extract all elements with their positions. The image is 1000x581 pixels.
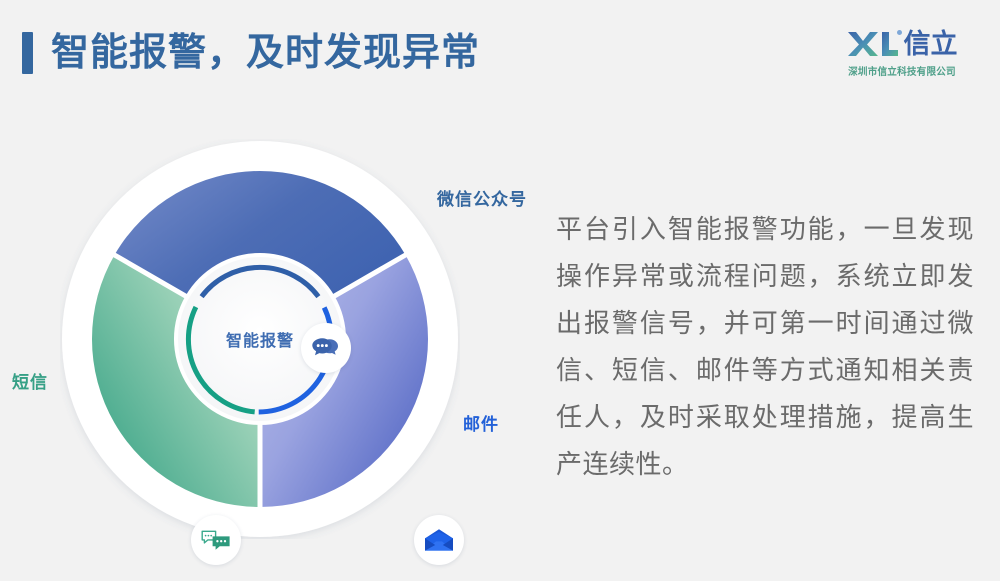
logo-wordmark: 信立 — [822, 28, 982, 60]
node-email[interactable] — [414, 515, 464, 565]
node-sms[interactable] — [191, 515, 241, 565]
page-title-group: 智能报警，及时发现异常 — [22, 32, 480, 74]
chat-bubbles-icon — [312, 335, 340, 361]
sms-messages-icon — [201, 528, 231, 552]
slide-canvas: 智能报警，及时发现异常 — [0, 0, 1000, 581]
title-accent-bar — [22, 32, 33, 74]
logo-brand-name: 信立 — [904, 30, 958, 58]
logo-company-name: 深圳市信立科技有限公司 — [825, 63, 979, 78]
slide-header: 智能报警，及时发现异常 — [0, 0, 1000, 108]
alert-channel-diagram: 智能报警 — [60, 139, 460, 539]
label-sms: 短信 — [12, 368, 48, 393]
node-wechat[interactable] — [301, 323, 351, 373]
page-title: 智能报警，及时发现异常 — [51, 34, 480, 72]
label-wechat: 微信公众号 — [437, 185, 527, 210]
envelope-icon — [424, 527, 454, 553]
label-email: 邮件 — [463, 410, 499, 435]
company-logo: 信立 深圳市信立科技有限公司 — [822, 28, 982, 78]
xl-mark-icon — [847, 30, 899, 58]
logo-registered-dot-icon — [897, 30, 902, 35]
description-paragraph: 平台引入智能报警功能，一旦发现操作异常或流程问题，系统立即发出报警信号，并可第一… — [556, 206, 974, 488]
